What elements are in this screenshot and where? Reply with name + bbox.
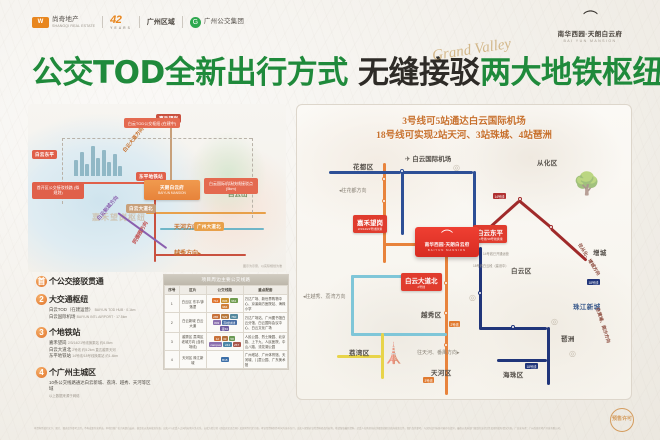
cell-routes: 265529760803高峰快线夜63 xyxy=(206,313,243,333)
cell-facility: 人民公园、烈士陵园、北京路、上下九、人民医院、中山八路、流花湖公园 xyxy=(243,333,287,351)
table-body: 1白云区 东平/钟落潭712836961984万达广场、新世界购物中心、京溪南方… xyxy=(165,295,288,369)
stop-chip-baiyun-avenue-north: 白云大道北 xyxy=(126,204,156,213)
shangqi-mark-icon: W xyxy=(32,17,49,28)
mountain-icon: ⌒ xyxy=(441,232,453,240)
highlight-line: 白云国际机场 BAIYUN INTL AIRPORT · 17.5km xyxy=(49,314,154,321)
table-element: 序号 区片 公交线路 重点配套 1白云区 东平/钟落潭712836961984万… xyxy=(164,285,288,369)
table-row: 1白云区 东平/钟落潭712836961984万达广场、新世界购物中心、京溪南方… xyxy=(165,295,288,313)
cell-facility: 万达广场、新世界购物中心、京溪南方医院站、海珠小学 xyxy=(243,295,287,313)
highlight-item-1: 首 个公交接驳贯通 xyxy=(36,276,154,287)
station-box-baiyun-avenue-north: 白云大道北 2号线 xyxy=(401,273,442,291)
airport-label: ✈ 白云国际机场 xyxy=(405,153,451,163)
metro-line-2-left xyxy=(329,171,401,174)
location-pin-icon: ◎ xyxy=(551,317,558,326)
bus-route-badge: 803 xyxy=(213,320,221,325)
highlight-number-2: 2 xyxy=(36,294,47,305)
metro-line-18-a xyxy=(479,247,482,329)
metro-line-yellow-v xyxy=(381,333,384,379)
table-row: 4天河区 珠江新城B18广州塔站、广州体育馆、天河城、儿童公园、广东美术馆 xyxy=(165,351,288,369)
bus-routes-table: 项目周边主要公交线路 序号 区片 公交线路 重点配套 1白云区 东平/钟落潭71… xyxy=(163,274,289,370)
map-boundary-dash-top xyxy=(62,138,252,139)
district-zengcheng: 增城 xyxy=(593,247,607,257)
cell-no: 4 xyxy=(165,351,180,369)
transit-group-icon: G xyxy=(190,17,201,28)
district-pazhou: 琶洲 xyxy=(561,333,575,343)
highlight-item-3: 3 个地铁站 嘉禾望岗 2/3/14/21号线换乘站 约6.0km 白云大道北 … xyxy=(36,327,154,360)
bus-route-badge: 836 xyxy=(221,298,229,303)
highlight-item-2: 2 大交通枢纽 白云TOD（在建运营） BAIYUN TOD HUB · 0.1… xyxy=(36,294,154,320)
bus-route-badge: 760 xyxy=(230,314,238,319)
district-huadu: 花都区 xyxy=(353,161,374,171)
baiyun-hill-shape xyxy=(190,132,266,218)
bus-route-badge: campus xyxy=(209,342,223,347)
official-seal-icon: 预售许可 xyxy=(610,408,634,432)
bus-route-badge: 高峰快线 xyxy=(222,320,237,325)
highlight-line: 嘉禾望岗 2/3/14/21号线换乘站 约6.0km xyxy=(49,340,154,347)
highlight-line: 白云TOD（在建运营） BAIYUN TOD HUB · 0.1km xyxy=(49,307,154,314)
project-marker-left-sub: BAIYUN MANSION xyxy=(158,191,186,195)
metro-station-dot xyxy=(400,169,404,173)
district-haizhu: 海珠区 xyxy=(503,369,524,379)
direction-yuexiu: 越秀方向▸ xyxy=(174,248,201,257)
bus-route-badge: 244 xyxy=(223,342,231,347)
project-marker-right: ⌒ 南华西园·天朗白云府 BAIYUN MANSION xyxy=(415,227,479,257)
cell-area: 越秀区 荔湾区 老城方向 (含机场线) xyxy=(179,333,206,351)
bus-route-badge: 257 xyxy=(233,342,241,347)
bus-route-badge: 984 xyxy=(221,304,229,309)
district-tianhe: 天河区 xyxy=(431,367,452,377)
logo-region: 广州区域 xyxy=(147,17,175,27)
metro-station-dot xyxy=(518,197,522,201)
location-pin-icon: ◎ xyxy=(469,293,476,302)
highlight-title-2: 大交通枢纽 xyxy=(49,294,88,305)
title-part-3: 两大地铁枢纽 xyxy=(480,55,660,91)
footnote-line18-construction: 18号线白云段（建设中） xyxy=(473,263,508,268)
brand-logo-right: ⌒ 南华西园·天朗白云府 BAI YUN MANSION xyxy=(546,12,634,43)
highlight-item-4: 4 个广州主城区 10条公交线路通达白云新城、荔湾、越秀、天河等区域 以上数据来… xyxy=(36,367,154,399)
metro-line-light-blue-b xyxy=(351,333,447,336)
metro-station-dot xyxy=(382,199,386,203)
bus-route-badge: 961 xyxy=(230,298,238,303)
bus-route-badge: 58 xyxy=(229,336,235,341)
col-area: 区片 xyxy=(179,286,206,295)
bus-route-badge: 712 xyxy=(212,298,220,303)
map-callout-airport: 白云国际机场快线接驳点 (5km) xyxy=(204,178,258,194)
legal-disclaimer: 本资料所载的文字、图片、图表仅作参考之用，不构成要约或承诺。本项目推广名为天朗白… xyxy=(34,427,590,430)
cell-no: 1 xyxy=(165,295,180,313)
metro-station-dot xyxy=(444,343,448,347)
table-title: 项目周边主要公交线路 xyxy=(164,275,288,285)
logo-shangqi: W 尚奇地产 SHANGQI REAL ESTATE xyxy=(32,16,95,28)
cell-area: 白云新城 白云大道 xyxy=(179,313,206,333)
bus-route-badge: 529 xyxy=(221,314,229,319)
col-facility: 重点配套 xyxy=(243,286,287,295)
bus-route-badge: 夜63 xyxy=(220,326,229,331)
canton-tower-icon: 🗼 xyxy=(381,341,406,366)
cell-routes: 123358campus244257 xyxy=(206,333,243,351)
direction-yuexiu-liwan: ◂往越秀、荔湾方向 xyxy=(303,293,346,300)
highlight-title-3: 个地铁站 xyxy=(49,327,80,338)
line-tag-3: 3号线 xyxy=(423,377,434,383)
district-yuexiu: 越秀区 xyxy=(421,309,442,319)
metro-line-18-c xyxy=(547,327,550,385)
bus-route-badge: 265 xyxy=(212,314,220,319)
location-pin-icon: ◎ xyxy=(569,349,576,358)
logo-divider-3 xyxy=(182,16,183,28)
district-baiyun: 白云区 xyxy=(511,265,532,275)
line-tag-14: 14号线 xyxy=(493,193,506,199)
station-box-jiahewanggang: 嘉禾望岗 2/3/14/21号线换乘 xyxy=(353,215,387,233)
shangqi-name: 尚奇地产 SHANGQI REAL ESTATE xyxy=(52,16,95,28)
metro-line-18-d xyxy=(497,359,547,362)
highlight-number-3: 3 xyxy=(36,327,47,338)
metro-station-dot xyxy=(382,177,386,181)
direction-tianhe-panyu: 往天河、番禺方向▸ xyxy=(417,349,460,356)
footnote-line14-open: 14号线已开通运营 xyxy=(483,251,509,256)
bus-connection-map: 嘉禾望岗枢纽 白云山 天河方向▸ 越秀方向▸ 白云大道方向 白云新城方向 同德围… xyxy=(28,104,286,272)
cell-area: 天河区 珠江新城 xyxy=(179,351,206,369)
map-legend-note: 图示为示意，以实际规划为准 xyxy=(243,264,282,268)
bus-route-badge: B18 xyxy=(221,357,229,362)
bus-route-badge: 12 xyxy=(214,336,220,341)
cell-no: 3 xyxy=(165,333,180,351)
metro-station-dot xyxy=(444,281,448,285)
direction-huangpu-nansha: 往黄埔、南沙方向 xyxy=(594,307,611,344)
highlight-title-4: 个广州主城区 xyxy=(49,367,96,378)
map-callout-tod: 白云TOD公交枢纽 (在建中) xyxy=(124,118,180,128)
logo-transit-group: G 广州公交集团 xyxy=(190,17,244,28)
col-routes: 公交线路 xyxy=(206,286,243,295)
metro-map-panel: 3号线可5站通达白云国际机场 18号线可实现2站天河、3站珠城、4站琶洲 🌳 🗼… xyxy=(296,104,632,400)
line-tag-18-east: 18号线 xyxy=(587,279,600,285)
stop-chip-guangzhou-avenue: 广州大道北 xyxy=(194,222,224,231)
metro-station-dot xyxy=(478,291,482,295)
highlight-line: 东平地铁站 14号线/18号线换乘站 约1.4km xyxy=(49,353,154,360)
highlight-number-4: 4 xyxy=(36,367,47,378)
table-header-row: 序号 区片 公交线路 重点配套 xyxy=(165,286,288,295)
line-tag-18-south: 18号线 xyxy=(525,363,538,369)
bus-route-badge: 33 xyxy=(222,336,228,341)
metro-headline: 3号线可5站通达白云国际机场 18号线可实现2站天河、3站珠城、4站琶洲 xyxy=(297,115,631,144)
project-marker-right-sub: BAIYUN MANSION xyxy=(428,248,466,252)
brand-name: 南华西园·天朗白云府 xyxy=(546,28,634,38)
cell-area: 白云区 东平/钟落潭 xyxy=(179,295,206,313)
table-row: 2白云新城 白云大道265529760803高峰快线夜63万达广场站、广州图书馆… xyxy=(165,313,288,333)
mountain-icon: ⌒ xyxy=(546,12,634,26)
direction-baiyun-avenue: 白云大道方向 xyxy=(121,126,145,154)
logo-divider-1 xyxy=(102,16,103,28)
metro-headline-1: 3号线可5站通达白云国际机场 xyxy=(297,115,631,129)
logo-divider-2 xyxy=(139,16,140,28)
brand-name-sub: BAI YUN MANSION xyxy=(546,39,634,43)
table-row: 3越秀区 荔湾区 老城方向 (含机场线)123358campus244257人民… xyxy=(165,333,288,351)
highlight-number-1: 首 xyxy=(36,276,47,287)
poster-canvas: W 尚奇地产 SHANGQI REAL ESTATE 42 YEARS 广州区域… xyxy=(0,0,660,440)
district-liwan: 荔湾区 xyxy=(349,347,370,357)
cell-routes: B18 xyxy=(206,351,243,369)
metro-headline-2: 18号线可实现2站天河、3站珠城、4站琶洲 xyxy=(297,129,631,143)
project-marker-left: 天朗白云府 BAIYUN MANSION xyxy=(144,180,200,200)
header-logo-bar: W 尚奇地产 SHANGQI REAL ESTATE 42 YEARS 广州区域… xyxy=(32,14,244,30)
cell-routes: 712836961984 xyxy=(206,295,243,313)
tree-icon: 🌳 xyxy=(573,171,600,197)
metro-line-2-top xyxy=(401,171,473,174)
cell-no: 2 xyxy=(165,313,180,333)
map-note-left: 首开区公交接驳线路 (拟规划) xyxy=(32,182,84,199)
cell-facility: 广州塔站、广州体育馆、天河城、儿童公园、广东美术馆 xyxy=(243,351,287,369)
airplane-icon: ✈ xyxy=(405,156,410,163)
metro-station-dot xyxy=(444,311,448,315)
logo-anniversary: 42 YEARS xyxy=(110,14,132,30)
metro-station-dot xyxy=(511,325,515,329)
metro-line-14-b xyxy=(518,199,552,228)
title-part-1: 公交TOD全新出行方式 xyxy=(32,55,348,91)
highlight-title-1: 个公交接驳贯通 xyxy=(49,276,104,287)
district-conghua: 从化区 xyxy=(537,157,558,167)
col-no: 序号 xyxy=(165,286,180,295)
cell-facility: 万达广场站、广州图书馆白云分馆、白云国际会议中心、白云文化广场 xyxy=(243,313,287,333)
metro-line-2-upper xyxy=(401,171,404,235)
metro-station-dot xyxy=(549,225,553,229)
metro-line-light-blue-v xyxy=(351,275,354,335)
direction-huadu: ◂往花都方向 xyxy=(339,187,367,194)
stop-chip-baiyun-dongping: 白云东平 xyxy=(32,150,57,159)
transit-group-name: 广州公交集团 xyxy=(204,18,244,25)
line-tag-2: 2号线 xyxy=(449,321,460,327)
page-title: 公交TOD全新出行方式 无缝接驳两大地铁枢纽 xyxy=(32,58,660,89)
highlight-desc-4: 10条公交线路通达白云新城、荔湾、越秀、天河等区域 以上数据来源于网络 xyxy=(49,380,154,399)
highlights-list: 首 个公交接驳贯通 2 大交通枢纽 白云TOD（在建运营） BAIYUN TOD… xyxy=(36,276,154,406)
city-skyline-icon xyxy=(74,146,122,176)
